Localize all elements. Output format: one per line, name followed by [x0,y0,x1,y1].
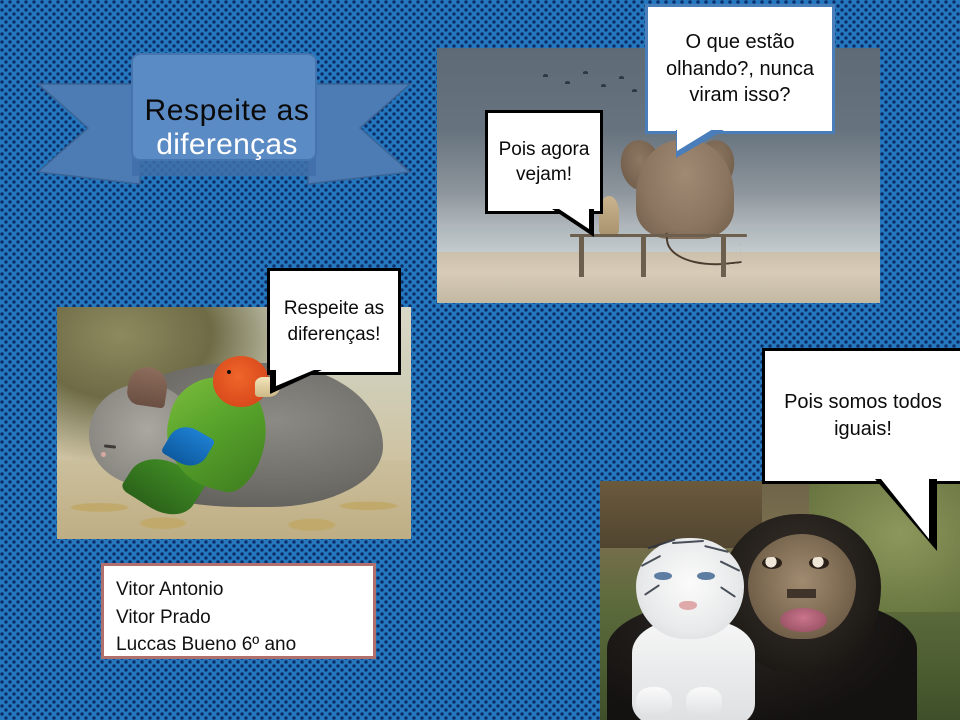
author-line-1: Vitor Antonio [116,576,373,604]
author-line-3: Luccas Bueno 6º ano [116,631,373,659]
speech-bubble-dog-tail-fill [559,209,589,229]
speech-bubble-lovebird-tail-fill [276,370,314,386]
speech-bubble-dog-text: Pois agora vejam! [488,137,600,188]
speech-bubble-chimpanzee-text: Pois somos todos iguais! [765,389,960,442]
authors-text-box[interactable]: Vitor Antonio Vitor Prado Luccas Bueno 6… [101,563,376,659]
bench-leg [641,237,646,278]
speech-bubble-elephant-tail-fill [677,129,713,151]
ribbon-left-tail [38,84,140,184]
bench-leg [579,237,584,278]
speech-bubble-lovebird-text: Respeite as diferenças! [270,296,398,347]
bird-silhouette-icon [583,71,588,74]
bird-silhouette-icon [619,76,624,79]
chimpanzee-open-mouth [780,608,827,632]
chimpanzee-nostrils [787,589,816,599]
lovebird-eye [227,370,231,374]
presentation-slide: Respeite as diferenças [0,0,960,720]
speech-bubble-elephant[interactable]: O que estão olhando?, nunca viram isso? [645,4,835,134]
speech-bubble-chimpanzee[interactable]: Pois somos todos iguais! [762,348,960,484]
bench-leg [721,237,726,278]
beach-sand [437,252,880,303]
ribbon-right-tail [308,84,410,184]
tiger-cub-left-eye [654,572,672,580]
bird-silhouette-icon [601,84,606,87]
bird-silhouette-icon [543,74,548,77]
bird-silhouette-icon [632,89,637,92]
speech-bubble-chimpanzee-tail-fill [881,479,929,539]
tiger-cub-paw [686,687,722,716]
bird-silhouette-icon [565,81,570,84]
tiger-cub-paw [636,687,672,716]
kitten-closed-eye [104,444,116,448]
ribbon-center-plate [132,54,316,160]
speech-bubble-dog[interactable]: Pois agora vejam! [485,110,603,214]
ribbon-banner: Respeite as diferenças [36,52,412,204]
kitten-nose [101,452,106,457]
ribbon-shape [36,52,412,204]
speech-bubble-elephant-text: O que estão olhando?, nunca viram isso? [648,29,832,109]
author-line-2: Vitor Prado [116,604,373,632]
speech-bubble-lovebird[interactable]: Respeite as diferenças! [267,268,401,375]
